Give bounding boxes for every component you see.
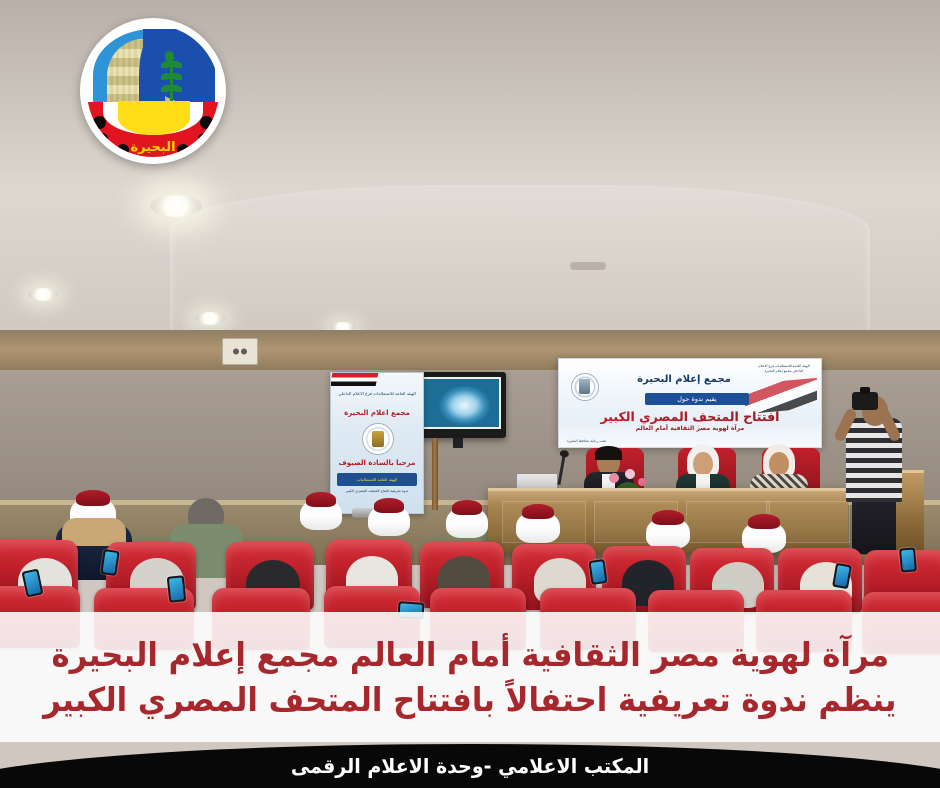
rollup-seal-icon	[362, 423, 394, 455]
caption-line-1: مرآة لهوية مصر الثقافية أمام العالم مجمع…	[51, 634, 889, 675]
wall-sign-icon	[222, 338, 258, 365]
attendee-turban	[300, 498, 342, 530]
display-stand	[453, 438, 463, 448]
footer-credit: المكتب الاعلامي -وحدة الاعلام الرقمى	[0, 754, 940, 778]
rollup-chip: الهيئة العامة للاستعلامات	[337, 473, 417, 486]
wheat-leaf	[171, 73, 182, 80]
banner-tagline: مرآة لهوية مصر الثقافية أمام العالم	[567, 425, 813, 432]
ceiling-spotlight	[195, 312, 225, 325]
smartphone	[588, 559, 607, 585]
egypt-flag-icon	[330, 373, 378, 386]
display-pole	[432, 438, 438, 510]
rollup-footnote: ندوة تعريفية افتتاح المتحف المصري الكبير	[335, 489, 419, 494]
caption-overlay: مرآة لهوية مصر الثقافية أمام العالم مجمع…	[0, 612, 940, 742]
beheira-emblem-logo: البحيرة	[80, 18, 226, 164]
wall-mounted-display	[410, 372, 506, 438]
wheat-leaf	[171, 85, 182, 92]
banner-headline: افتتاح المتحف المصري الكبير	[567, 409, 813, 424]
banner-org-header: الهيئة العامة للاستعلامات فرع الاعلام ال…	[753, 364, 815, 375]
emblem-city-label: البحيرة	[87, 140, 219, 155]
banner-subtitle-chip: يقيم ندوة حول	[645, 393, 749, 405]
emblem-inner: البحيرة	[87, 25, 219, 157]
rollup-banner: الهيئة العامة للاستعلامات فرع الاعلام ال…	[330, 372, 424, 514]
panelist-hair	[595, 446, 622, 460]
attendee-turban	[368, 504, 410, 536]
smartphone	[167, 575, 187, 603]
poster-root: الهيئة العامة للاستعلامات فرع الاعلام ال…	[0, 0, 940, 788]
smartphone	[899, 547, 917, 572]
rollup-welcome: مرحبا بالسادة الضيوف	[335, 459, 419, 467]
gear-tooth	[93, 116, 106, 129]
camera-icon	[852, 392, 878, 410]
ceiling-spotlight	[150, 195, 202, 217]
banner-seal-icon	[571, 373, 599, 401]
banner-footnote: تحت رعاية محافظ البحيرة	[567, 439, 606, 443]
wheat-tip	[165, 51, 174, 61]
ceiling-spotlight	[28, 288, 58, 301]
banner-title: مجمع إعلام البحيرة	[619, 374, 749, 385]
attendee-turban	[446, 506, 488, 538]
panelist-face	[693, 452, 713, 476]
attendee-turban	[646, 516, 690, 549]
ceiling-vent	[570, 262, 606, 270]
rollup-title: مجمع اعلام البحيرة	[337, 409, 417, 417]
attendee-turban	[516, 510, 560, 543]
main-banner: الهيئة العامة للاستعلامات فرع الاعلام ال…	[558, 358, 822, 448]
display-screen	[415, 377, 501, 429]
wheat-leaf	[171, 61, 182, 68]
panelist-face	[769, 452, 789, 476]
gear-tooth	[200, 116, 213, 129]
rollup-org-line: الهيئة العامة للاستعلامات فرع الاعلام ال…	[337, 391, 417, 397]
caption-line-2: ينظم ندوة تعريفية احتفالاً بافتتاح المتح…	[43, 679, 896, 720]
smartphone	[100, 549, 119, 576]
emblem-yellow-basin	[118, 101, 190, 135]
